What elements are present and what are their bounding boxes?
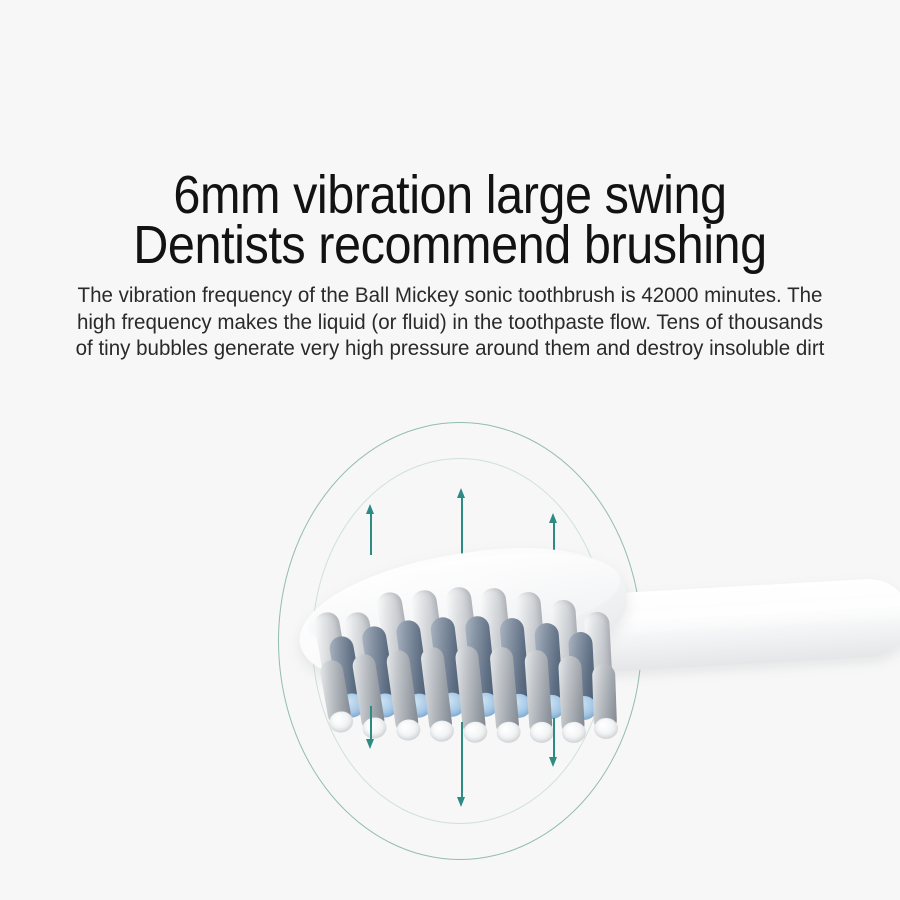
arrow-down-left (370, 706, 372, 740)
arrow-down-right (553, 718, 555, 758)
product-feature-banner: 6mm vibration large swing Dentists recom… (0, 0, 900, 900)
vibration-diagram (0, 400, 900, 900)
bristle-tuft (558, 655, 585, 736)
arrow-down-center (461, 722, 463, 798)
body-paragraph: The vibration frequency of the Ball Mick… (68, 282, 832, 362)
headline-line-2: Dentists recommend brushing (45, 216, 855, 274)
toothbrush-head (250, 540, 900, 800)
bristle-tuft (592, 664, 617, 733)
